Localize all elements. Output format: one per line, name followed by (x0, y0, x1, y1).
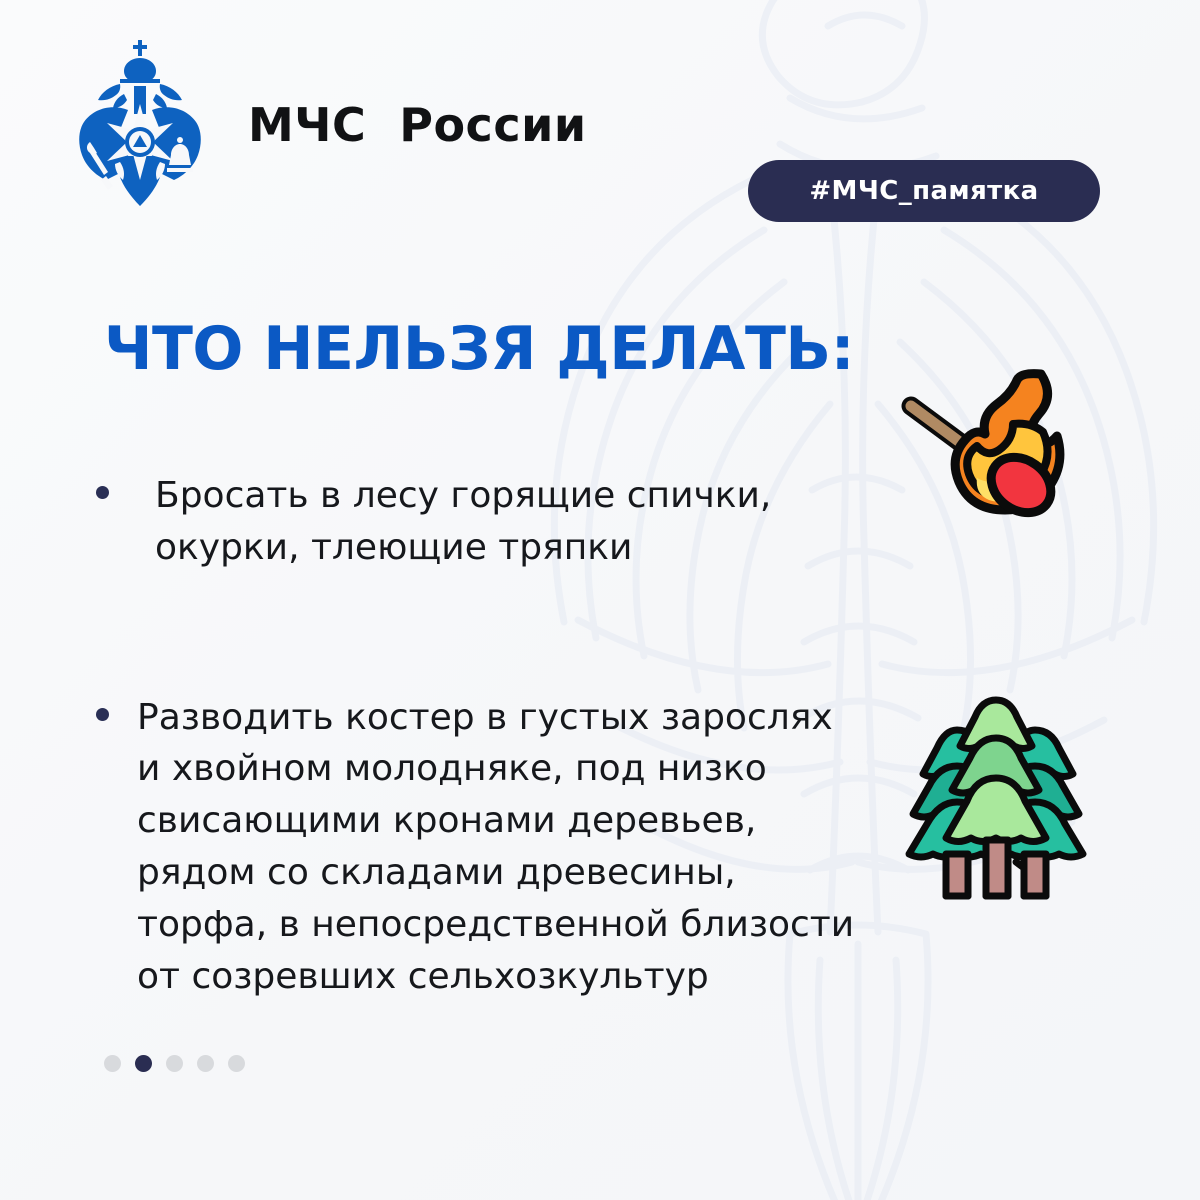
hashtag-badge[interactable]: #МЧС_памятка (748, 160, 1100, 222)
page-dot-3[interactable] (166, 1055, 183, 1072)
pagination-dots[interactable] (104, 1055, 245, 1072)
list-item-text: Разводить костер в густых зарослях и хво… (137, 692, 854, 1003)
list-item: Бросать в лесу горящие спички, окурки, т… (96, 470, 926, 574)
page-title: ЧТО НЕЛЬЗЯ ДЕЛАТЬ: (104, 318, 854, 381)
bullet-dot-icon (96, 486, 109, 499)
poster-header: МЧС России #МЧС_памятка (0, 38, 1200, 208)
page-dot-1[interactable] (104, 1055, 121, 1072)
bullet-dot-icon (96, 708, 109, 721)
rules-list: Бросать в лесу горящие спички, окурки, т… (96, 470, 926, 1003)
page-dot-4[interactable] (197, 1055, 214, 1072)
page-dot-2[interactable] (135, 1055, 152, 1072)
brand-name: МЧС России (248, 96, 587, 148)
page-dot-5[interactable] (228, 1055, 245, 1072)
poster-root: МЧС России #МЧС_памятка ЧТО НЕЛЬЗЯ ДЕЛАТ… (0, 0, 1200, 1200)
mchs-eagle-emblem-icon (76, 38, 204, 206)
list-item: Разводить костер в густых зарослях и хво… (96, 692, 926, 1003)
brand-lockup: МЧС России (76, 38, 587, 206)
coniferous-trees-icon (902, 692, 1090, 910)
list-item-text: Бросать в лесу горящие спички, окурки, т… (155, 470, 771, 574)
